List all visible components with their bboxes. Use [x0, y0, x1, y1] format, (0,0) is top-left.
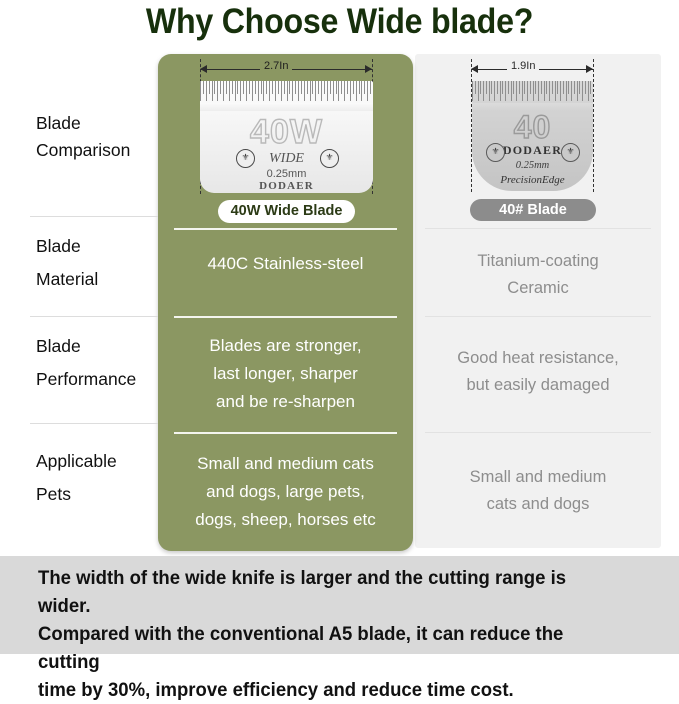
blade-teeth [200, 81, 373, 103]
screw-icon-left: ⚜ [236, 149, 255, 168]
wide-blade-pill-label: 40W Wide Blade [218, 200, 355, 223]
performance-line2: but easily damaged [423, 372, 653, 399]
row-divider-1 [30, 216, 158, 217]
row-label-line2: Performance [36, 366, 158, 393]
row-label-line1: Blade [36, 233, 158, 260]
wide-blade-performance: Blades are stronger, last longer, sharpe… [168, 332, 403, 416]
screw-icon-right: ⚜ [320, 149, 339, 168]
right-divider-1 [425, 228, 651, 229]
standard-blade-edge-text: PrecisionEdge [472, 174, 593, 186]
summary-line1: The width of the wide knife is larger an… [38, 564, 619, 620]
standard-blade-pill-label: 40# Blade [470, 199, 596, 221]
row-label-blade-comparison: Blade Comparison [36, 110, 158, 164]
row-label-blade-performance: Blade Performance [36, 333, 158, 393]
row-label-line1: Blade [36, 110, 158, 137]
standard-blade-pets: Small and medium cats and dogs [423, 464, 653, 518]
row-label-line2: Material [36, 266, 158, 293]
wide-blade-thickness: 0.25mm [200, 168, 373, 180]
summary-text: The width of the wide knife is larger an… [38, 564, 619, 704]
pets-line1: Small and medium [423, 464, 653, 491]
row-label-column: Blade Comparison Blade Material Blade Pe… [0, 48, 158, 548]
standard-blade-thickness: 0.25mm [472, 160, 593, 171]
pets-line3: dogs, sheep, horses etc [168, 506, 403, 534]
green-divider-2 [174, 316, 397, 318]
green-divider-3 [174, 432, 397, 434]
standard-blade-performance: Good heat resistance, but easily damaged [423, 345, 653, 399]
wide-blade-brand: DODAER [200, 180, 373, 192]
standard-blade-graphic: 40 DODAER 0.25mm PrecisionEdge ⚜ ⚜ [472, 81, 593, 191]
standard-blade-dimension: 1.9In [471, 59, 593, 81]
wide-blade-wide-text: WIDE [200, 151, 373, 167]
green-divider-1 [174, 228, 397, 230]
performance-line1: Good heat resistance, [423, 345, 653, 372]
pets-line2: and dogs, large pets, [168, 478, 403, 506]
row-label-line1: Blade [36, 333, 158, 360]
performance-line3: and be re-sharpen [168, 388, 403, 416]
wide-blade-dimension: 2.7In [200, 59, 372, 81]
comparison-table: Blade Comparison Blade Material Blade Pe… [0, 48, 679, 548]
blade-teeth [472, 81, 593, 103]
row-divider-2 [30, 316, 158, 317]
wide-blade-content: 2.7In 40W WIDE 0.25mm DODAER ⚜ ⚜ 40W Wid… [158, 54, 413, 551]
standard-blade-material: Titanium-coating Ceramic [423, 248, 653, 302]
row-divider-3 [30, 423, 158, 424]
standard-blade-number: 40 [472, 109, 593, 146]
summary-line3: time by 30%, improve efficiency and redu… [38, 676, 619, 704]
wide-blade-material: 440C Stainless-steel [168, 250, 403, 278]
pets-line1: Small and medium cats [168, 450, 403, 478]
right-divider-3 [425, 432, 651, 433]
row-label-line2: Comparison [36, 137, 158, 164]
material-line2: Ceramic [423, 275, 653, 302]
wide-blade-dimension-label: 2.7In [260, 60, 292, 72]
row-label-line1: Applicable [36, 448, 158, 475]
screw-icon-left: ⚜ [486, 143, 505, 162]
performance-line2: last longer, sharper [168, 360, 403, 388]
dimension-guide-right [593, 59, 594, 192]
summary-banner: The width of the wide knife is larger an… [0, 556, 679, 654]
row-label-line2: Pets [36, 481, 158, 508]
standard-blade-dimension-label: 1.9In [507, 60, 539, 72]
summary-line2: Compared with the conventional A5 blade,… [38, 620, 619, 676]
page-title: Why Choose Wide blade? [27, 2, 652, 42]
row-label-blade-material: Blade Material [36, 233, 158, 293]
wide-blade-graphic: 40W WIDE 0.25mm DODAER ⚜ ⚜ [200, 81, 373, 193]
screw-icon-right: ⚜ [561, 143, 580, 162]
pets-line2: cats and dogs [423, 491, 653, 518]
right-divider-2 [425, 316, 651, 317]
wide-blade-pets: Small and medium cats and dogs, large pe… [168, 450, 403, 534]
standard-blade-content: 1.9In 40 DODAER 0.25mm PrecisionEdge ⚜ ⚜… [415, 54, 661, 548]
wide-blade-number: 40W [200, 113, 373, 152]
material-line1: Titanium-coating [423, 248, 653, 275]
comparison-infographic: Why Choose Wide blade? Blade Comparison … [0, 0, 679, 654]
performance-line1: Blades are stronger, [168, 332, 403, 360]
row-label-applicable-pets: Applicable Pets [36, 448, 158, 508]
